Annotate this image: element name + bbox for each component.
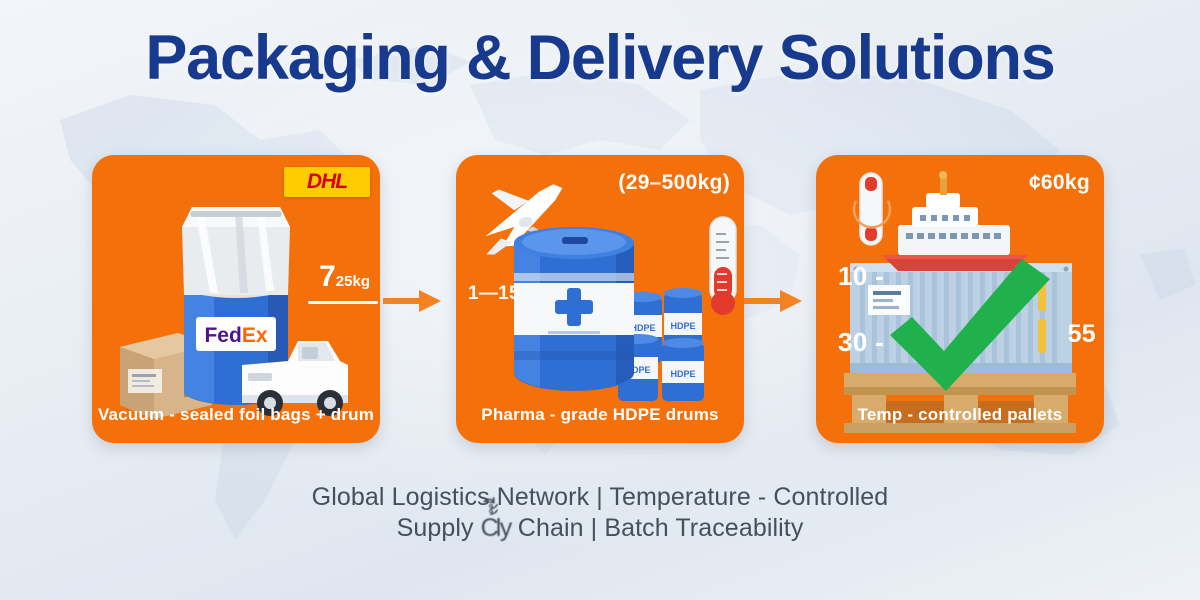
arrow-card1-to-card2 (383, 288, 443, 314)
footer-tagline: Global Logistics Network | Temperature -… (0, 482, 1200, 544)
card3-weight-label: ¢60kg (1029, 171, 1090, 195)
footer-line2-prefix: Supply (397, 514, 481, 542)
weight-label-card1: 725kg (319, 260, 370, 294)
arrow-card2-to-card3 (744, 288, 804, 314)
footer-line2-garbled-word: C้้ีly (481, 513, 511, 544)
svg-text:HDPE: HDPE (670, 321, 695, 331)
hdpe-drum-art (514, 227, 634, 391)
card3-temp-label-bottom: 30 - (838, 327, 884, 358)
card1-caption: Vacuum - sealed foil bags + drum (92, 405, 380, 425)
weight-small-value: 25kg (336, 273, 370, 290)
page-title: Packaging & Delivery Solutions (0, 22, 1200, 94)
svg-text:HDPE: HDPE (670, 369, 695, 379)
footer-line-1: Global Logistics Network | Temperature -… (0, 482, 1200, 513)
card3-temp-label-top: 10 - (838, 261, 884, 292)
card-pharma-hdpe[interactable]: HDPE HDPE HDPE (456, 155, 744, 443)
card2-weight-range-label: (29–500kg) (618, 171, 730, 195)
card1-artwork: FedEx (92, 155, 380, 443)
slide-canvas: Packaging & Delivery Solutions (0, 0, 1200, 600)
card-vacuum-sealed[interactable]: FedEx (92, 155, 380, 443)
svg-text:FedEx: FedEx (204, 324, 267, 347)
svg-text:HDPE: HDPE (630, 323, 655, 333)
card2-caption: Pharma - grade HDPE drums (456, 405, 744, 425)
foil-bag-art (182, 207, 290, 295)
card-temp-controlled[interactable]: ¢60kg 10 - 30 - 55 Temp - controlled pal… (816, 155, 1104, 443)
footer-line-2: Supply C้้ีly Chain | Batch Traceability (0, 513, 1200, 544)
thermometer-icon-art (710, 217, 736, 315)
weight-underline-card1 (308, 301, 378, 304)
cargo-ship-art (882, 171, 1028, 271)
weight-big-value: 7 (319, 260, 336, 293)
dhl-logo-text: DHL (307, 170, 347, 194)
thermometer-icon-art (854, 173, 890, 245)
card3-caption: Temp - controlled pallets (816, 405, 1104, 425)
dhl-logo: DHL (284, 167, 370, 197)
footer-line2-suffix: Chain | Batch Traceability (511, 514, 804, 542)
card2-left-range-label: 1—15 (468, 283, 520, 305)
card3-artwork (816, 155, 1104, 443)
cards-row: FedEx (0, 155, 1200, 445)
card3-right-label: 55 (1068, 320, 1096, 349)
